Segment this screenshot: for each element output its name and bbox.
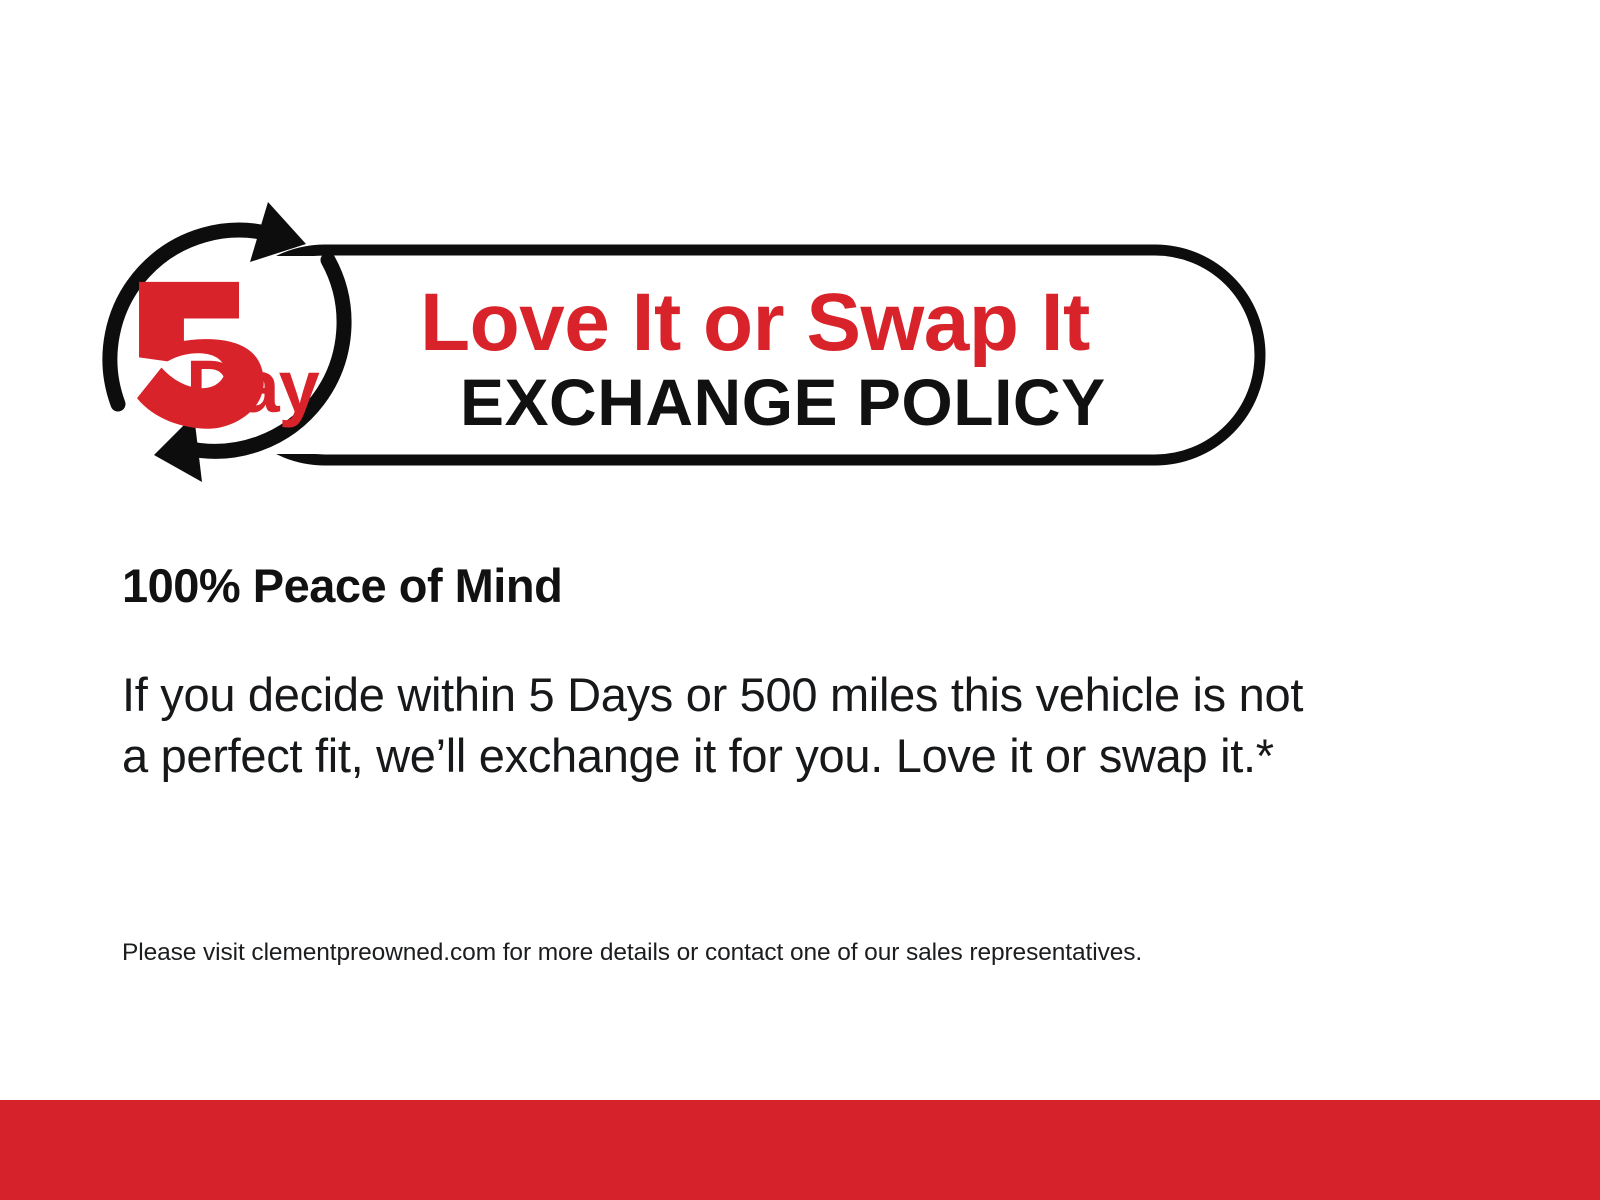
badge-headline-secondary: EXCHANGE POLICY	[460, 365, 1106, 439]
badge-logo-unit: Day	[186, 345, 320, 428]
badge-headline-primary: Love It or Swap It	[420, 277, 1090, 368]
footer-accent-bar	[0, 1100, 1600, 1200]
policy-badge: Day Love It or Swap It EXCHANGE POLICY	[90, 190, 1290, 490]
badge-graphic: Day Love It or Swap It EXCHANGE POLICY	[90, 190, 1290, 490]
exchange-policy-card: Day Love It or Swap It EXCHANGE POLICY 1…	[0, 0, 1600, 1200]
policy-footnote: Please visit clementpreowned.com for mor…	[122, 938, 1522, 967]
policy-description: If you decide within 5 Days or 500 miles…	[122, 664, 1322, 786]
subheading: 100% Peace of Mind	[122, 560, 1422, 612]
policy-copy-block: 100% Peace of Mind If you decide within …	[122, 560, 1422, 612]
